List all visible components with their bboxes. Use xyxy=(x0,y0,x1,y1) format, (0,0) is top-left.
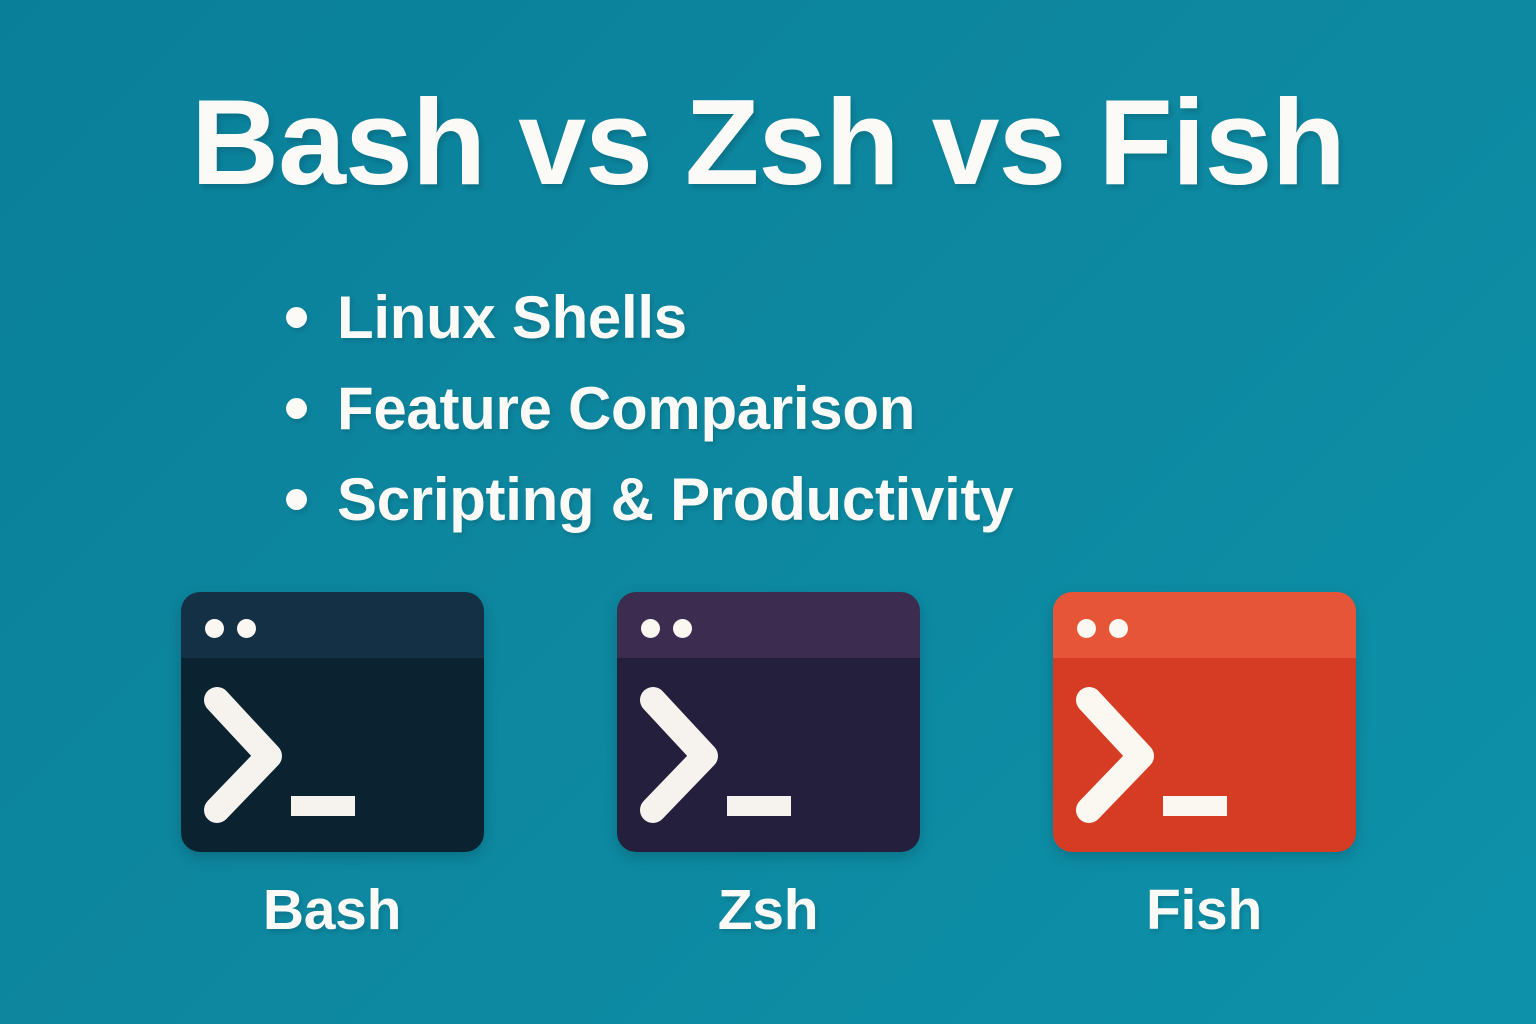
terminal-prompt-glyphs xyxy=(181,658,484,852)
page-title: Bash vs Zsh vs Fish xyxy=(0,78,1536,206)
window-dot-icon xyxy=(237,619,256,638)
cursor-underscore-icon xyxy=(291,796,355,816)
bullet-dot-icon xyxy=(286,398,307,419)
bullet-label: Scripting & Productivity xyxy=(337,470,1013,530)
terminal-prompt-glyphs xyxy=(617,658,920,852)
list-item: Feature Comparison xyxy=(286,363,1286,454)
chevron-prompt-icon xyxy=(217,700,269,810)
bullet-list: Linux Shells Feature Comparison Scriptin… xyxy=(286,272,1286,545)
shell-card-bash: Bash xyxy=(181,592,484,939)
terminal-icon xyxy=(1053,592,1356,852)
window-dots-icon xyxy=(641,619,692,638)
list-item: Scripting & Productivity xyxy=(286,454,1286,545)
shell-label-zsh: Zsh xyxy=(718,882,818,939)
window-dot-icon xyxy=(1109,619,1128,638)
slide-canvas: Bash vs Zsh vs Fish Linux Shells Feature… xyxy=(0,0,1536,1024)
terminal-icon xyxy=(181,592,484,852)
window-dots-icon xyxy=(205,619,256,638)
shell-card-fish: Fish xyxy=(1053,592,1356,939)
bullet-dot-icon xyxy=(286,489,307,510)
window-dots-icon xyxy=(1077,619,1128,638)
window-dot-icon xyxy=(1077,619,1096,638)
shell-card-zsh: Zsh xyxy=(617,592,920,939)
window-dot-icon xyxy=(641,619,660,638)
chevron-prompt-icon xyxy=(1089,700,1141,810)
cursor-underscore-icon xyxy=(1163,796,1227,816)
window-dot-icon xyxy=(673,619,692,638)
bullet-dot-icon xyxy=(286,307,307,328)
terminal-icon xyxy=(617,592,920,852)
shell-icon-row: Bash Zsh xyxy=(0,592,1536,939)
shell-label-fish: Fish xyxy=(1146,882,1262,939)
terminal-prompt-glyphs xyxy=(1053,658,1356,852)
bullet-label: Feature Comparison xyxy=(337,379,915,439)
shell-label-bash: Bash xyxy=(263,882,401,939)
chevron-prompt-icon xyxy=(653,700,705,810)
cursor-underscore-icon xyxy=(727,796,791,816)
bullet-label: Linux Shells xyxy=(337,288,687,348)
window-dot-icon xyxy=(205,619,224,638)
list-item: Linux Shells xyxy=(286,272,1286,363)
